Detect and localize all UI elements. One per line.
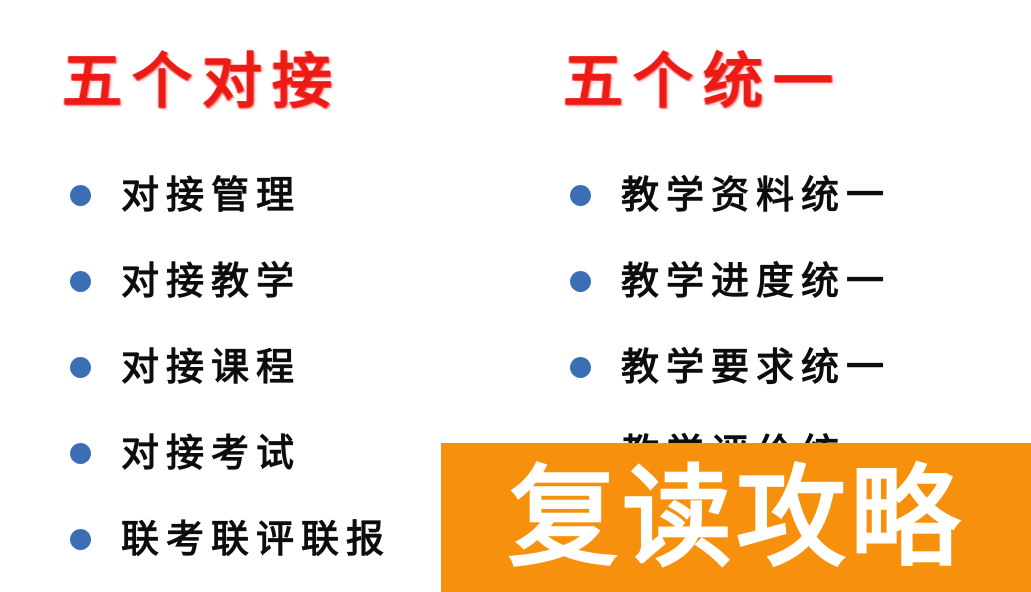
list-item[interactable]: 教学要求统一 — [570, 324, 891, 410]
banner-title: 复读攻略 — [508, 459, 964, 577]
bullet-dot-icon — [570, 357, 591, 378]
left-column-heading: 五个对接 — [62, 47, 342, 117]
list-item[interactable]: 教学资料统一 — [570, 152, 891, 238]
list-item[interactable]: 对接课程 — [70, 324, 391, 410]
list-item-label: 对接教学 — [121, 259, 301, 303]
bullet-dot-icon — [70, 271, 91, 292]
poster-canvas: 五个对接 对接管理 对接教学 对接课程 对接考试 — [0, 0, 1031, 592]
banner-overlay: 复读攻略 — [441, 443, 1031, 592]
list-item-label: 教学资料统一 — [621, 173, 891, 217]
bullet-dot-icon — [70, 185, 91, 206]
right-column-heading: 五个统一 — [563, 47, 843, 117]
list-item-label: 对接考试 — [121, 431, 301, 475]
list-item[interactable]: 对接考试 — [70, 410, 391, 496]
bullet-dot-icon — [70, 529, 91, 550]
list-item[interactable]: 对接教学 — [70, 238, 391, 324]
list-item-label: 教学进度统一 — [621, 259, 891, 303]
list-item-label: 对接课程 — [121, 345, 301, 389]
list-item[interactable]: 联考联评联报 — [70, 496, 391, 582]
list-item-label: 教学要求统一 — [621, 345, 891, 389]
bullet-dot-icon — [70, 357, 91, 378]
left-bullet-list: 对接管理 对接教学 对接课程 对接考试 联考联评联报 — [70, 152, 391, 582]
left-column: 五个对接 对接管理 对接教学 对接课程 对接考试 — [0, 0, 515, 592]
list-item[interactable]: 教学进度统一 — [570, 238, 891, 324]
list-item[interactable]: 对接管理 — [70, 152, 391, 238]
list-item-label: 联考联评联报 — [121, 517, 391, 561]
bullet-dot-icon — [570, 185, 591, 206]
bullet-dot-icon — [570, 271, 591, 292]
bullet-dot-icon — [70, 443, 91, 464]
list-item-label: 对接管理 — [121, 173, 301, 217]
